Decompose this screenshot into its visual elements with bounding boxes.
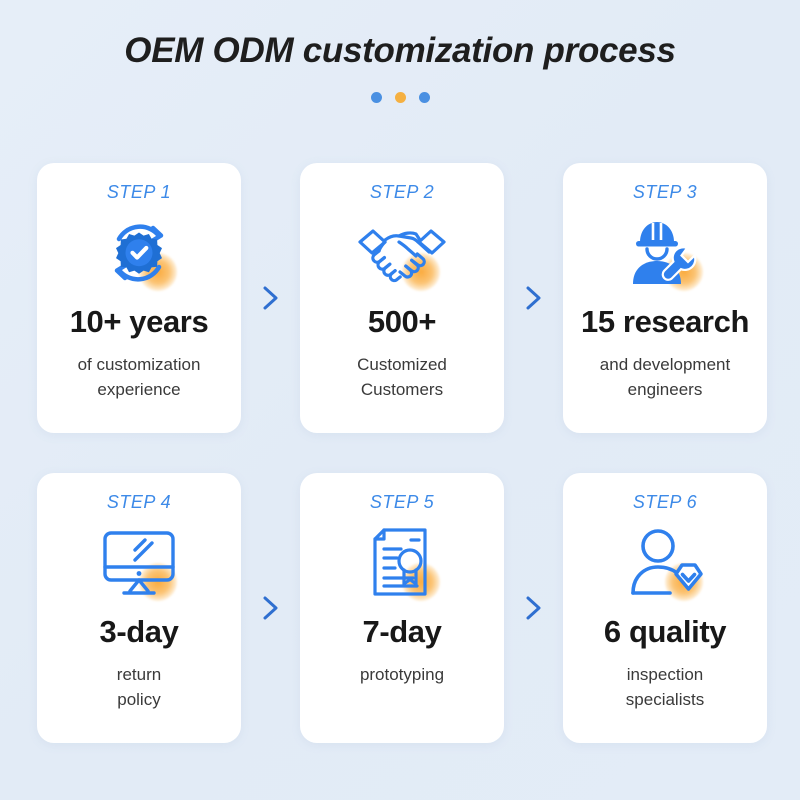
step-card-1[interactable]: STEP 1 10+ years of customization experi…: [37, 163, 241, 433]
card-subtext: and development engineers: [600, 353, 730, 402]
engineer-hardhat-wrench-icon: [617, 213, 713, 293]
card-subtext: prototyping: [360, 663, 444, 688]
card-subtext-line2: engineers: [628, 380, 703, 399]
steps-grid: STEP 1 10+ years of customization experi…: [37, 163, 763, 743]
card-subtext-line2: policy: [117, 690, 160, 709]
step-card-3[interactable]: STEP 3 15 research and development engin…: [563, 163, 767, 433]
step-label: STEP 5: [370, 493, 434, 511]
step-card-5[interactable]: STEP 5 7-day prototyping: [300, 473, 504, 743]
card-headline: 15 research: [581, 305, 749, 339]
card-subtext-line2: specialists: [626, 690, 704, 709]
card-headline: 7-day: [363, 615, 442, 649]
step-label: STEP 6: [633, 493, 697, 511]
card-headline: 10+ years: [70, 305, 209, 339]
chevron-step4-step5-icon: [261, 595, 281, 621]
card-subtext-line1: prototyping: [360, 665, 444, 684]
card-subtext-line2: experience: [97, 380, 180, 399]
card-subtext: of customization experience: [78, 353, 201, 402]
decorative-dots: [0, 92, 800, 103]
chevron-step1-step2-icon: [261, 285, 281, 311]
step-card-6[interactable]: STEP 6 6 quality inspection specialists: [563, 473, 767, 743]
card-headline: 500+: [368, 305, 436, 339]
chevron-step2-step3-icon: [524, 285, 544, 311]
card-headline: 6 quality: [604, 615, 726, 649]
step-label: STEP 3: [633, 183, 697, 201]
card-subtext: return policy: [117, 663, 161, 712]
card-subtext-line1: and development: [600, 355, 730, 374]
card-subtext-line1: of customization: [78, 355, 201, 374]
step-card-2[interactable]: STEP 2: [300, 163, 504, 433]
chevron-step5-step6-icon: [524, 595, 544, 621]
card-subtext: inspection specialists: [626, 663, 704, 712]
card-subtext-line1: return: [117, 665, 161, 684]
header: OEM ODM customization process: [0, 0, 800, 103]
card-subtext-line1: Customized: [357, 355, 447, 374]
dot-blue-1: [371, 92, 382, 103]
page-title: OEM ODM customization process: [0, 30, 800, 72]
gear-refresh-check-icon: [91, 213, 187, 293]
step-label: STEP 2: [370, 183, 434, 201]
infographic-page: OEM ODM customization process STEP 1: [0, 0, 800, 800]
dot-blue-2: [419, 92, 430, 103]
desktop-monitor-icon: [91, 523, 187, 603]
card-subtext-line1: inspection: [627, 665, 704, 684]
card-subtext: Customized Customers: [357, 353, 447, 402]
card-headline: 3-day: [100, 615, 179, 649]
dot-orange: [395, 92, 406, 103]
step-label: STEP 4: [107, 493, 171, 511]
certificate-document-seal-icon: [354, 523, 450, 603]
handshake-icon: [354, 213, 450, 293]
card-subtext-line2: Customers: [361, 380, 443, 399]
step-label: STEP 1: [107, 183, 171, 201]
step-card-4[interactable]: STEP 4 3-day return policy: [37, 473, 241, 743]
person-shield-check-icon: [617, 523, 713, 603]
